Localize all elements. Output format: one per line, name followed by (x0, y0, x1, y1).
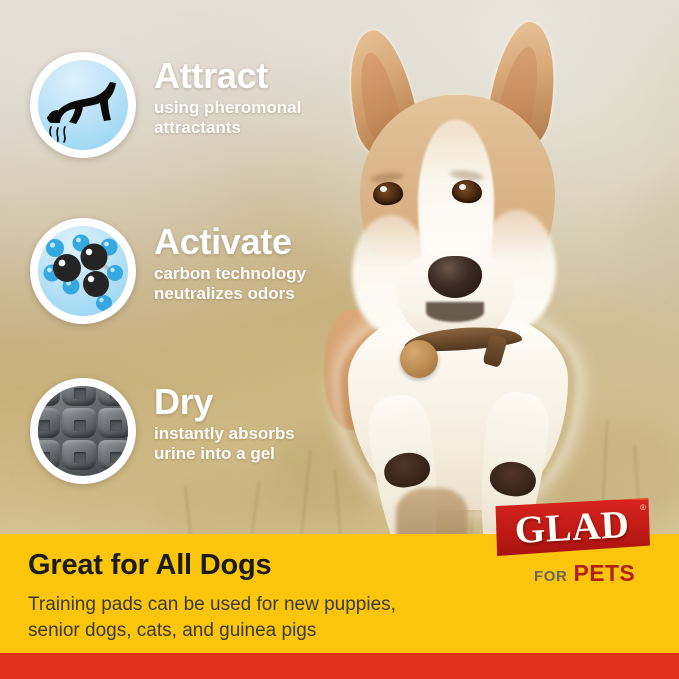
registered-trademark-icon: ® (640, 503, 646, 512)
feature-subtitle: using pheromonal attractants (154, 98, 301, 138)
quilted-pad-texture-icon (38, 386, 128, 476)
product-advertisement: Attract using pheromonal attractants (0, 0, 679, 679)
feature-subtitle-line: urine into a gel (154, 444, 295, 464)
feature-badge-dry (30, 378, 136, 484)
feature-activate: Activate carbon technology neutralizes o… (30, 218, 306, 324)
feature-subtitle: carbon technology neutralizes odors (154, 264, 306, 304)
glad-logo-wordmark: GLAD (493, 494, 652, 561)
banner-subtext-line: Training pads can be used for new puppie… (28, 592, 396, 618)
feature-subtitle-line: carbon technology (154, 264, 306, 284)
glad-logo-banner: GLAD ® (494, 498, 650, 556)
feature-subtitle-line: instantly absorbs (154, 424, 295, 444)
glad-logo-tagline: FOR PETS (534, 560, 635, 587)
dog-eye-glint-left (380, 186, 387, 192)
feature-title: Dry (154, 384, 295, 420)
glad-logo: GLAD ® FOR PETS (494, 498, 654, 598)
feature-subtitle: instantly absorbs urine into a gel (154, 424, 295, 464)
feature-title: Attract (154, 58, 301, 94)
carbon-molecule-icon (38, 226, 128, 316)
feature-title: Activate (154, 224, 306, 260)
feature-badge-attract (30, 52, 136, 158)
feature-subtitle-line: using pheromonal (154, 98, 301, 118)
feature-subtitle-line: attractants (154, 118, 301, 138)
tagline-pets: PETS (573, 560, 635, 587)
dog-collar-tag (400, 340, 438, 378)
dog-eye-glint-right (459, 184, 466, 190)
banner-subtext-line: senior dogs, cats, and guinea pigs (28, 618, 396, 644)
dog-hind-leg (396, 488, 468, 540)
dog-mouth (426, 302, 484, 322)
bottom-red-bar (0, 653, 679, 679)
banner-subtext: Training pads can be used for new puppie… (28, 592, 396, 643)
feature-text-attract: Attract using pheromonal attractants (154, 52, 301, 138)
tagline-for: FOR (534, 568, 567, 585)
feature-dry: Dry instantly absorbs urine into a gel (30, 378, 295, 484)
banner-heading: Great for All Dogs (28, 549, 271, 582)
feature-text-dry: Dry instantly absorbs urine into a gel (154, 378, 295, 464)
feature-attract: Attract using pheromonal attractants (30, 52, 301, 158)
dog-photo-subject (300, 10, 630, 540)
feature-badge-activate (30, 218, 136, 324)
scent-waves-icon (46, 122, 76, 144)
feature-text-activate: Activate carbon technology neutralizes o… (154, 218, 306, 304)
feature-subtitle-line: neutralizes odors (154, 284, 306, 304)
